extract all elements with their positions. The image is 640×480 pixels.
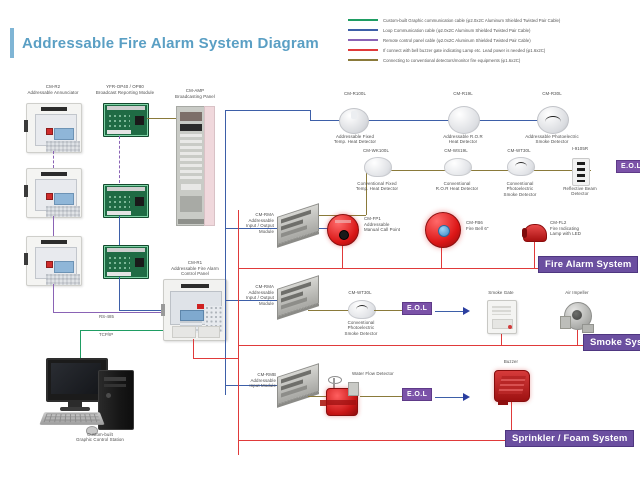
input-module-name: Addressable Input Module (234, 378, 276, 389)
pcb-header (107, 106, 145, 110)
drop-impeller (577, 330, 578, 345)
fire-lamp-model: CM-FL2 (550, 220, 620, 225)
buzzer-icon[interactable] (494, 370, 530, 402)
annunciator-1[interactable] (26, 103, 82, 153)
call-point-model: CM-FP1 (364, 216, 434, 221)
panel-drawer-left[interactable] (172, 326, 196, 338)
smoke-slit (356, 305, 368, 310)
io-module-2-name: Addressable Input / Output Module (234, 290, 274, 306)
eol-badge-sprinkler: E.O.L (402, 388, 432, 401)
amp-model: CM-AMP (155, 88, 235, 93)
legend-label-remote: Remote control panel cable (φ2.0x2C Alum… (383, 38, 531, 43)
lamp-cap (522, 228, 527, 238)
wire-waterflow-to-eol (360, 396, 402, 397)
air-impeller-icon[interactable] (560, 300, 594, 332)
pcb-components (108, 114, 130, 130)
power-panel-link (193, 358, 238, 359)
beam-lens (577, 162, 585, 182)
page-title: Addressable Fire Alarm System Diagram (10, 28, 319, 58)
smoke-detector-name: Conventional Photoelectric Smoke Detecto… (330, 320, 392, 336)
conventional-photoelectric-smoke-detector-icon[interactable] (507, 157, 535, 176)
legend: Custom-built Graphic communication cable… (348, 15, 560, 65)
annunciator-lcd (54, 193, 74, 205)
pcb-chip (135, 197, 144, 206)
conventional-ror-heat-detector-icon[interactable] (444, 158, 472, 176)
amp-control-strip (180, 124, 202, 131)
conv-detector-3-model: CM-WT30L (483, 148, 555, 153)
valve-handwheel (328, 376, 342, 384)
smoke-gate-label: Smoke Gate (473, 290, 529, 295)
power-riser (238, 210, 239, 455)
wire-annunciator-dashed (53, 151, 54, 168)
pcb-header (107, 187, 145, 191)
panel-face (170, 291, 222, 325)
pcb-connector (107, 130, 131, 134)
addressable-ror-heat-detector-icon[interactable] (448, 106, 480, 134)
detector-3-model: CM-R30L (512, 91, 592, 96)
wire-io2-to-smoke-detector (308, 310, 350, 311)
panel-lcd (180, 310, 204, 321)
air-impeller-label: Air Impeller (548, 290, 606, 295)
label-rs485: RS-485 (99, 314, 114, 319)
addressable-fixed-heat-detector-icon[interactable] (339, 108, 369, 134)
legend-row-remote: Remote control panel cable (φ2.0x2C Alum… (348, 35, 560, 45)
drive-bay-2 (104, 384, 126, 387)
fire-bell-icon[interactable] (425, 212, 461, 248)
call-point-button[interactable] (339, 230, 349, 240)
impeller-hub (572, 310, 582, 320)
label-tcpip: TCP/IP (99, 332, 113, 337)
addressable-io-module-1[interactable] (277, 203, 319, 245)
buzzer-foot (498, 400, 508, 405)
smoke-slit (545, 116, 561, 122)
reflective-beam-detector-icon[interactable] (572, 158, 590, 186)
conv-detector-3-name: Conventional Photoelectric Smoke Detecto… (480, 181, 560, 197)
fire-alarm-control-panel[interactable] (163, 279, 227, 341)
amp-name: Broadcasting Panel (155, 94, 235, 99)
fire-lamp-name: Fire Indicating Lamp with LED (550, 226, 620, 237)
pcb-components (108, 256, 130, 272)
legend-label-graphic: Custom-built Graphic communication cable… (383, 18, 560, 23)
buzzer-fins (498, 376, 526, 394)
title-text: Addressable Fire Alarm System Diagram (22, 35, 319, 52)
annunciator-keypad[interactable] (46, 141, 80, 152)
drop-bell (441, 246, 442, 268)
badge-sprinkler-foam-system: Sprinkler / Foam System (505, 430, 634, 447)
optical-drive-bay (104, 377, 126, 381)
control-panel-name: Addressable Fire Alarm Control Panel (150, 266, 240, 277)
conv-detector-2-model: CM-WS19L (420, 148, 492, 153)
amp-brand-badge (181, 184, 201, 190)
loop-bus-lower (225, 300, 226, 395)
annunciator-hinge (24, 253, 28, 265)
alarm-led-icon (46, 128, 53, 135)
annunciator-slot (41, 240, 67, 244)
flow-switch (348, 382, 359, 396)
water-flow-label: Water Flow Detector (352, 371, 426, 376)
broadcasting-panel[interactable] (176, 106, 214, 224)
legend-row-loop: Loop Communication cable (φ2.0x2C Alumin… (348, 25, 560, 35)
amp-display (180, 112, 202, 121)
graphic-control-station[interactable] (42, 358, 150, 436)
smoke-gate-icon[interactable] (487, 300, 517, 334)
smoke-slit (515, 162, 527, 167)
gate-indicator-icon (508, 325, 512, 329)
valve-band (326, 400, 356, 405)
power-panel-drop (193, 339, 194, 359)
legend-row-graphic: Custom-built Graphic communication cable… (348, 15, 560, 25)
water-flow-detector-icon[interactable] (320, 378, 364, 418)
monitor-stand (68, 400, 82, 407)
annunciator-lcd (54, 128, 74, 140)
monitor-base (60, 407, 90, 411)
legend-swatch-graphic (348, 19, 378, 21)
alarm-led-icon (46, 261, 53, 268)
pcb-header (107, 248, 145, 252)
detector-2-name: Addressable R.O.R Heat Detector (419, 134, 507, 145)
annunciator-face (35, 114, 77, 146)
eol-badge-detector-loop: E.O.L (616, 160, 640, 173)
panel-alarm-led-icon (197, 304, 204, 309)
loop-bus-top-v (310, 110, 311, 120)
badge-fire-alarm-system: Fire Alarm System (538, 256, 638, 273)
wire-pcb-dashed (119, 136, 120, 183)
detector-3-name: Addressable Photoelectric Smoke Detector (505, 134, 599, 145)
beam-detector-model: I-9105R (552, 146, 608, 151)
addressable-input-module[interactable] (277, 363, 319, 405)
beam-detector-name: Reflective Beam Detector (550, 186, 610, 197)
detector-1-name: Addressable Fixed Temp. Heat Detector (311, 134, 399, 145)
keyboard[interactable] (39, 412, 104, 425)
pcb-connector (107, 211, 131, 215)
fire-bell-model: CM-FB6 (466, 220, 526, 225)
conventional-fixed-heat-detector-icon[interactable] (364, 157, 392, 177)
diagram-canvas: Addressable Fire Alarm System Diagram Cu… (0, 0, 640, 480)
legend-row-power: If connect with bell buzzer gate indicat… (348, 45, 560, 55)
loop-bus-riser (225, 110, 226, 310)
annunciator-face (35, 247, 77, 279)
legend-swatch-power (348, 49, 378, 51)
pcb-connector (107, 272, 131, 276)
drop-callpoint (342, 244, 343, 268)
legend-label-conventional: Connecting to conventional detectors/mon… (383, 58, 520, 63)
eol-badge-smoke: E.O.L (402, 302, 432, 315)
amp-base (178, 219, 204, 224)
conv-detector-1-name: Conventional Fixed Temp. Heat Detector (336, 181, 418, 192)
fire-bell-name: Fire Bell 6" (466, 226, 526, 231)
amp-door[interactable] (204, 106, 215, 226)
addressable-photoelectric-smoke-detector-icon[interactable] (537, 106, 569, 134)
conv-detector-1-model: CM-WK100L (340, 148, 412, 153)
loop-bus-top (225, 110, 311, 111)
broadcast-module-1[interactable] (103, 103, 149, 137)
annunciator-lcd (54, 261, 74, 273)
keyboard-keys (44, 414, 101, 423)
power-bus-smoke (238, 345, 583, 346)
conv-bus-h (366, 170, 591, 171)
annunciator-keypad[interactable] (46, 206, 80, 217)
annunciator-hinge (24, 120, 28, 132)
pcb-chip (135, 116, 144, 125)
annunciator-3[interactable] (26, 236, 82, 286)
gate-louvers (492, 306, 511, 315)
power-button-icon[interactable] (106, 393, 111, 398)
fire-indicating-lamp-icon[interactable] (523, 224, 547, 242)
conventional-smoke-detector-smoke-row-icon[interactable] (348, 300, 376, 319)
badge-smoke-system: Smoke System (583, 334, 640, 351)
legend-swatch-conventional (348, 59, 378, 61)
panel-hinge (161, 304, 165, 316)
wire-pcb-down (119, 277, 120, 310)
legend-swatch-loop (348, 29, 378, 31)
alarm-led-icon (46, 193, 53, 200)
wire-annunciator-remote (53, 216, 54, 236)
legend-row-conventional: Connecting to conventional detectors/mon… (348, 55, 560, 65)
arrow-sprinkler (463, 393, 470, 401)
wire-tcpip-v (80, 330, 81, 358)
io-module-2-model: CM-RMA (234, 284, 274, 289)
title-accent-bar (10, 28, 14, 58)
panel-slot (181, 284, 209, 288)
wire-pcb-loop (119, 216, 120, 245)
input-module-model: CM-RMB (234, 372, 276, 377)
call-point-text-strip (335, 220, 351, 223)
annunciator-slot (41, 172, 67, 176)
amp-lower-panel (180, 196, 202, 212)
wire-annunciator-to-panel-h (53, 312, 163, 313)
annunciator-keypad[interactable] (46, 274, 80, 285)
broadcast-module-3[interactable] (103, 245, 149, 279)
annunciator-2[interactable] (26, 168, 82, 218)
manual-call-point-icon[interactable] (327, 214, 359, 246)
wire-sprinkler-eol-to-buzzer (435, 397, 463, 398)
wire-pcb-to-amp (147, 118, 179, 119)
wire-annunciator-to-panel-v (53, 284, 54, 312)
io-module-1-model: CM-RMA (234, 212, 274, 217)
annunciator-hinge (24, 185, 28, 197)
detector-2-model: CM-R19L (423, 91, 503, 96)
detector-1-model: CM-R100L (315, 91, 395, 96)
wire-pcb-to-panel (119, 310, 163, 311)
control-panel-model: CM-R1 (150, 260, 240, 265)
legend-label-loop: Loop Communication cable (φ2.0x2C Alumin… (383, 28, 530, 33)
pcb-components (108, 195, 130, 211)
power-bus-sprinkler (238, 440, 513, 441)
arrow-smoke (463, 307, 470, 315)
bell-hub (438, 225, 450, 237)
pcb-chip (135, 258, 144, 267)
broadcast-module-2[interactable] (103, 184, 149, 218)
wire-smoke-detector-to-eol (374, 310, 402, 311)
power-bus-firealarm (238, 268, 538, 269)
io-module-1-name: Addressable Input / Output Module (234, 218, 274, 234)
wire-smoke-eol-to-gate (435, 311, 463, 312)
smoke-detector-model: CM-WT30L (330, 290, 390, 295)
pc-label: Custom-built Graphic Control Station (50, 432, 150, 443)
monitor-screen (51, 363, 101, 394)
drop-lamp (534, 240, 535, 268)
wire-tcpip-h (80, 330, 163, 331)
impeller-outlet (582, 324, 594, 333)
legend-label-power: If connect with bell buzzer gate indicat… (383, 48, 545, 53)
buzzer-label: Buzzer (486, 359, 536, 364)
legend-swatch-remote (348, 39, 378, 41)
annunciator-slot (41, 107, 67, 111)
impeller-inlet (560, 316, 571, 329)
annunciator-face (35, 179, 77, 211)
amp-module-rack (180, 134, 202, 180)
conv-bus-riser (366, 170, 367, 215)
call-point-name: Addressable Manual Call Point (364, 222, 434, 233)
panel-drawer-right[interactable] (198, 326, 220, 338)
detector-nub (351, 111, 358, 118)
